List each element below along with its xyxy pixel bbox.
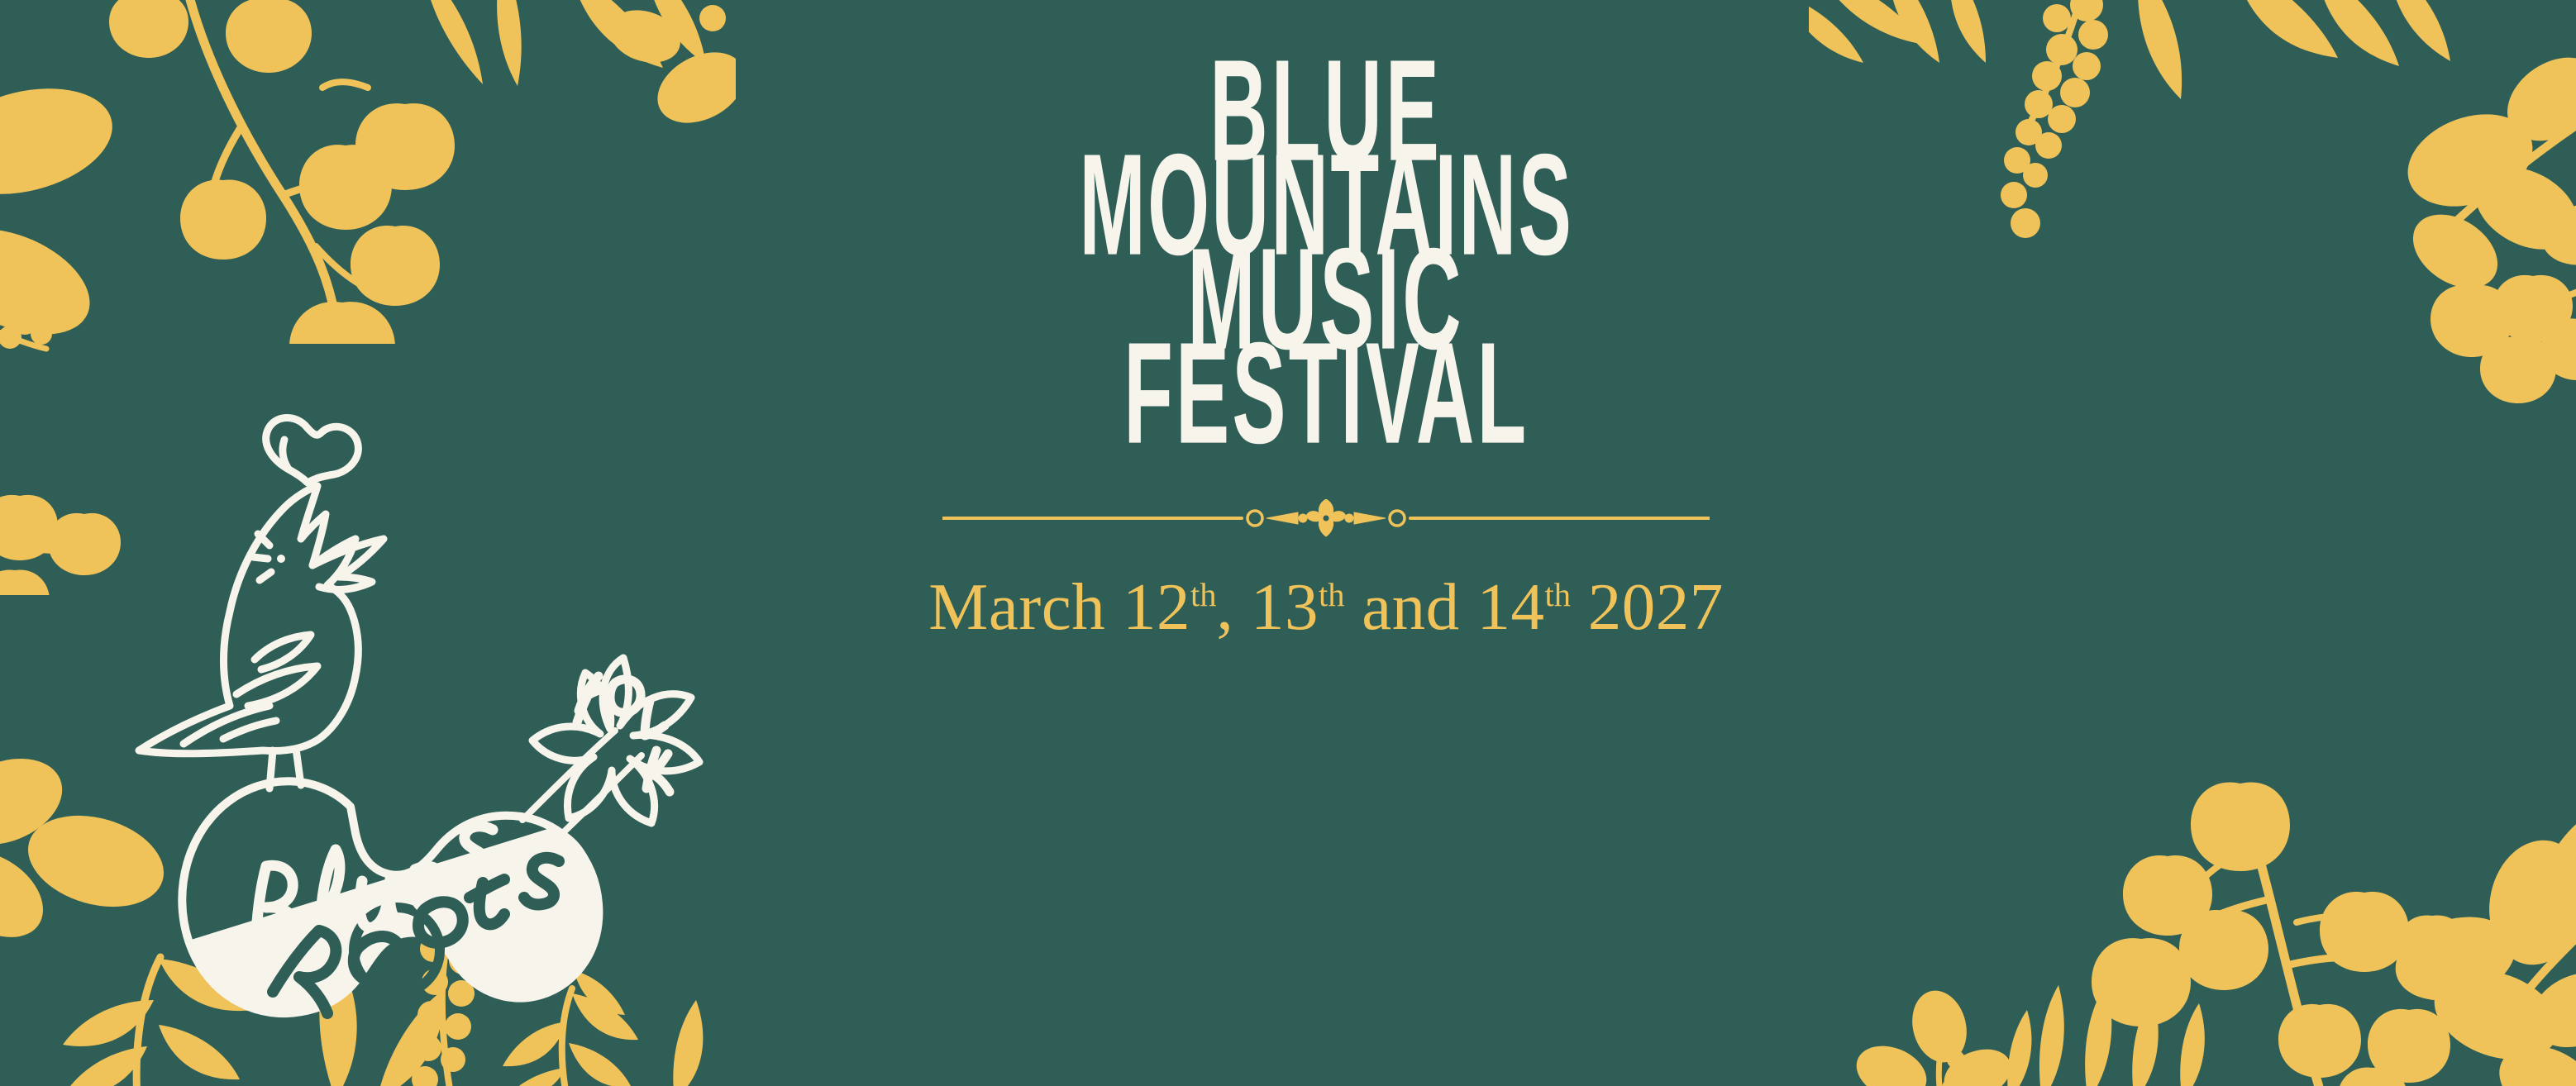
date-month: March <box>928 569 1105 644</box>
date-year: 2027 <box>1588 569 1724 644</box>
heart-icon <box>266 417 359 483</box>
festival-dates: March 12th, 13th and 14th 2027 <box>928 569 1723 645</box>
logo-artwork <box>60 337 688 916</box>
botanical-right-middle <box>2369 273 2576 521</box>
title-line-festival: FESTIVAL <box>1123 326 1529 460</box>
date-day-2: 13 <box>1251 569 1319 644</box>
blues-roots-folk-logo <box>60 337 688 916</box>
botanical-top-left <box>0 0 736 344</box>
date-separator-1: , <box>1216 569 1251 644</box>
date-day-3: 14 <box>1476 569 1544 644</box>
date-day-3-suffix: th <box>1544 576 1571 613</box>
ornamental-divider <box>942 499 1710 537</box>
date-day-2-suffix: th <box>1319 576 1345 613</box>
page-title: BLUE MOUNTAINS MUSIC FESTIVAL <box>1014 43 1639 420</box>
bird-illustration <box>139 486 384 788</box>
date-day-1-suffix: th <box>1190 576 1217 613</box>
date-day-1: 12 <box>1123 569 1190 644</box>
festival-banner: BLUE MOUNTAINS MUSIC FESTIVAL <box>0 0 2576 1086</box>
text-content: BLUE MOUNTAINS MUSIC FESTIVAL <box>701 0 1951 1086</box>
date-conjunction: and <box>1344 569 1476 644</box>
